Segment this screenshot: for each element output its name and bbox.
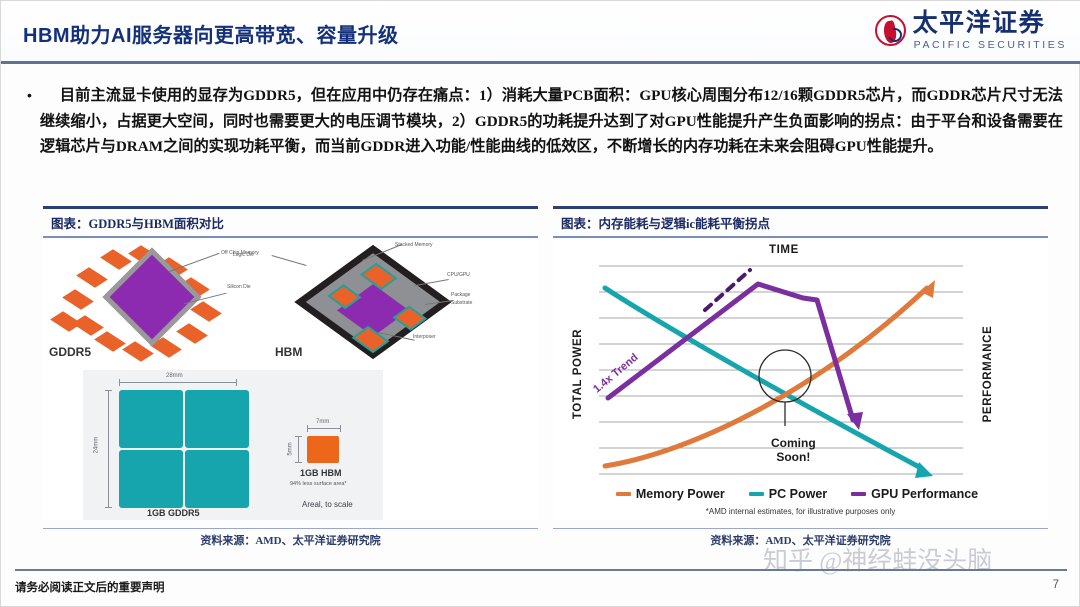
source-divider: [43, 528, 538, 529]
left-panel-source: 资料来源：AMD、太平洋证券研究院: [43, 532, 538, 548]
dimension-tick: [105, 390, 112, 391]
legend-swatch-pc-power: [749, 492, 764, 497]
company-logo: 太平洋证券 PACIFIC SECURITIES: [875, 11, 1067, 51]
logo-chinese-name: 太平洋证券: [913, 11, 1067, 36]
dimension-line-width: [119, 382, 237, 383]
hbm-height-label: 5mm: [288, 442, 294, 455]
right-panel-source: 资料来源：AMD、太平洋证券研究院: [553, 532, 1048, 548]
legend-swatch-memory-power: [616, 492, 631, 497]
footer-disclaimer: 请务必阅读正文后的重要声明: [15, 579, 165, 595]
hbm-width-label: 7mm: [316, 419, 329, 425]
dimension-tick: [295, 436, 302, 437]
series-pc-power: [605, 288, 933, 478]
coming-soon-annotation: Coming Soon!: [771, 436, 816, 464]
left-figure-panel: 图表：GDDR5与HBM面积对比 Off: [43, 206, 538, 551]
series-memory-power: [605, 280, 935, 466]
gddr-height-label: 24mm: [93, 437, 99, 454]
right-figure-body: TIME TOTAL POWER PERFORMANCE: [553, 240, 1048, 520]
callout-silicon-die: Silicon Die: [227, 284, 251, 290]
dimension-tick: [105, 507, 112, 508]
chip-package-diagram: Off Chip Memory Silicon Die GDDR5 Logic …: [43, 240, 538, 365]
hbm-diagram-label: HBM: [275, 345, 302, 359]
gddr5-diagram-label: GDDR5: [49, 345, 91, 359]
dimension-line-height: [108, 390, 109, 508]
legend-label-gpu-performance: GPU Performance: [871, 487, 978, 501]
series-trend-dashed: [705, 270, 750, 310]
areal-scale-note: Areal, to scale: [302, 500, 353, 509]
dimension-tick: [307, 425, 308, 432]
gddr-area-caption: 1GB GDDR5: [147, 508, 200, 518]
hbm-area-block: [307, 436, 339, 463]
panel-top-rule: [43, 206, 538, 209]
page-title: HBM助力AI服务器向更高带宽、容量升级: [23, 19, 399, 48]
logo-english-name: PACIFIC SECURITIES: [913, 40, 1067, 51]
gddr-width-label: 28mm: [166, 373, 183, 379]
legend-label-pc-power: PC Power: [769, 487, 827, 501]
hbm-package: [294, 245, 451, 359]
dimension-tick: [119, 379, 120, 386]
footer-divider: [15, 569, 1067, 571]
bullet-icon: •: [23, 83, 32, 160]
gddr-area-block: [119, 390, 183, 448]
dimension-line-height: [298, 436, 299, 463]
right-figure-panel: 图表：内存能耗与逻辑ic能耗平衡拐点 TIME TOTAL POWER PERF…: [553, 206, 1048, 551]
callout-interposer: Interposer: [413, 334, 436, 340]
callout-stacked-memory: Stacked Memory: [395, 242, 433, 248]
panel-top-rule: [553, 206, 1048, 209]
gddr-memory-chip: [72, 315, 104, 336]
panel-title-underline: [43, 236, 538, 238]
gddr-memory-chip: [176, 323, 208, 344]
callout-cpu-gpu: CPU/GPU: [447, 272, 470, 278]
left-panel-title: 图表：GDDR5与HBM面积对比: [51, 213, 224, 232]
legend-item-memory-power: Memory Power: [616, 487, 725, 501]
gddr-area-block: [185, 390, 249, 448]
area-comparison-diagram: 28mm 24mm 1GB GDDR5 7mm 5mm 1: [83, 370, 383, 520]
hbm-stacked-memory: [360, 263, 398, 290]
source-divider: [553, 528, 1048, 529]
gddr-area-block: [185, 450, 249, 508]
dimension-line-width: [307, 428, 341, 429]
series-gpu-performance: [608, 284, 863, 430]
right-panel-title: 图表：内存能耗与逻辑ic能耗平衡拐点: [561, 213, 770, 232]
slide-root: HBM助力AI服务器向更高带宽、容量升级 太平洋证券 PACIFIC SECUR…: [0, 0, 1080, 607]
legend-label-memory-power: Memory Power: [636, 487, 725, 501]
callout-leader: [272, 255, 307, 266]
coming-soon-line2: Soon!: [776, 450, 810, 464]
dimension-tick: [236, 379, 237, 386]
callout-logic-die: Logic Die: [233, 252, 254, 258]
page-number: 7: [1053, 579, 1059, 591]
gddr-memory-chip: [190, 301, 222, 322]
chart-footnote: *AMD internal estimates, for illustrativ…: [553, 507, 1048, 516]
dimension-tick: [340, 425, 341, 432]
pacific-securities-logo-icon: [875, 15, 906, 46]
gddr-memory-chip: [62, 289, 94, 310]
gddr-memory-chip: [76, 267, 108, 288]
gddr-area-block: [119, 450, 183, 508]
panel-title-underline: [553, 236, 1048, 238]
hbm-area-caption: 1GB HBM: [300, 468, 342, 478]
callout-package-substrate: Package: [451, 292, 470, 298]
left-figure-body: Off Chip Memory Silicon Die GDDR5 Logic …: [43, 240, 538, 520]
legend-item-pc-power: PC Power: [749, 487, 827, 501]
legend-item-gpu-performance: GPU Performance: [851, 487, 978, 501]
callout-package-substrate-2: Substrate: [451, 300, 472, 306]
header-divider: [1, 61, 1080, 64]
hbm-stacked-memory: [352, 326, 390, 353]
gddr-memory-chip: [100, 249, 132, 270]
slide-header: HBM助力AI服务器向更高带宽、容量升级 太平洋证券 PACIFIC SECUR…: [1, 1, 1080, 62]
dimension-tick: [295, 462, 302, 463]
body-bullet-block: • 目前主流显卡使用的显存为GDDR5，但在应用中仍存在痛点：1）消耗大量PCB…: [23, 83, 1063, 160]
logo-text-block: 太平洋证券 PACIFIC SECURITIES: [913, 11, 1067, 51]
legend-swatch-gpu-performance: [851, 492, 866, 497]
crossover-annotation-circle: [759, 350, 811, 426]
chart-legend: Memory Power PC Power GPU Performance: [567, 487, 1027, 501]
hbm-area-subcaption: 94% less surface area*: [290, 481, 347, 487]
coming-soon-line1: Coming: [771, 436, 816, 450]
body-paragraph: 目前主流显卡使用的显存为GDDR5，但在应用中仍存在痛点：1）消耗大量PCB面积…: [40, 83, 1063, 160]
